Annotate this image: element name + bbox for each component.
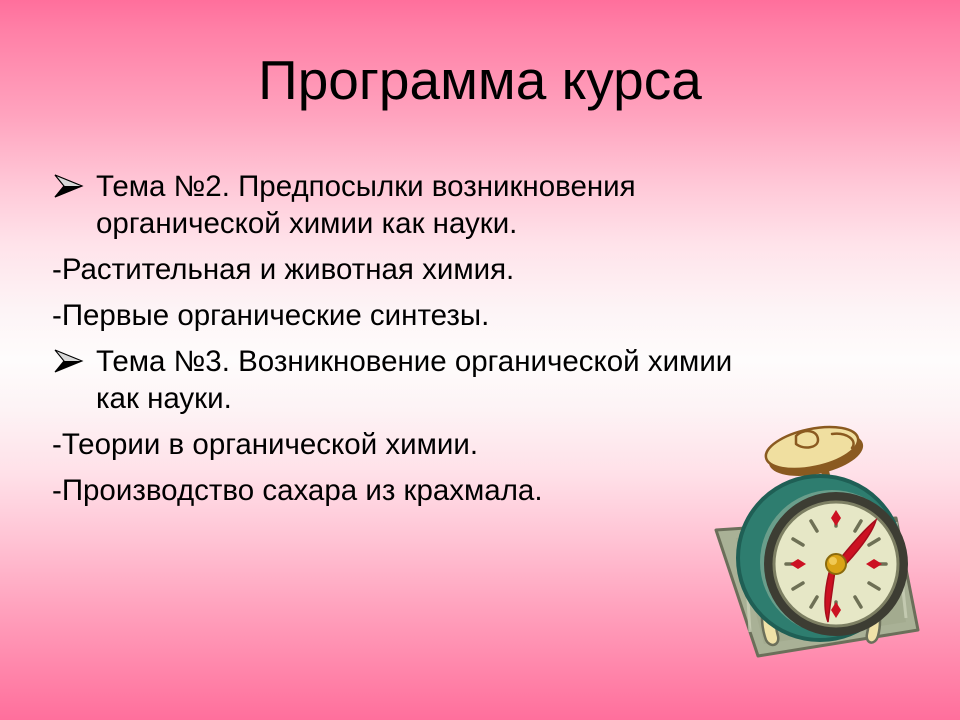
dash-paragraph: -Растительная и животная химия. [46, 251, 746, 288]
bullet-paragraph: Тема №3. Возникновение органической хими… [46, 343, 746, 417]
paragraph-text: -Теории в органической химии. [52, 426, 746, 463]
alarm-clock-icon [700, 418, 960, 680]
arrowhead-bullet-icon [52, 346, 86, 376]
arrowhead-bullet-icon [52, 171, 86, 201]
paragraph-text: -Первые органические синтезы. [52, 297, 746, 334]
slide-title: Программа курса [0, 48, 960, 112]
paragraph-text: Тема №2. Предпосылки возникновения орган… [96, 168, 746, 242]
paragraph-text: -Производство сахара из крахмала. [52, 472, 746, 509]
dash-paragraph: -Производство сахара из крахмала. [46, 472, 746, 509]
paragraph-text: -Растительная и животная химия. [52, 251, 746, 288]
dash-paragraph: -Теории в органической химии. [46, 426, 746, 463]
paragraph-text: Тема №3. Возникновение органической хими… [96, 343, 746, 417]
slide-canvas: Программа курса Тема №2. Предпосылки воз… [0, 0, 960, 720]
dash-paragraph: -Первые органические синтезы. [46, 297, 746, 334]
slide-body: Тема №2. Предпосылки возникновения орган… [46, 168, 746, 518]
bullet-paragraph: Тема №2. Предпосылки возникновения орган… [46, 168, 746, 242]
